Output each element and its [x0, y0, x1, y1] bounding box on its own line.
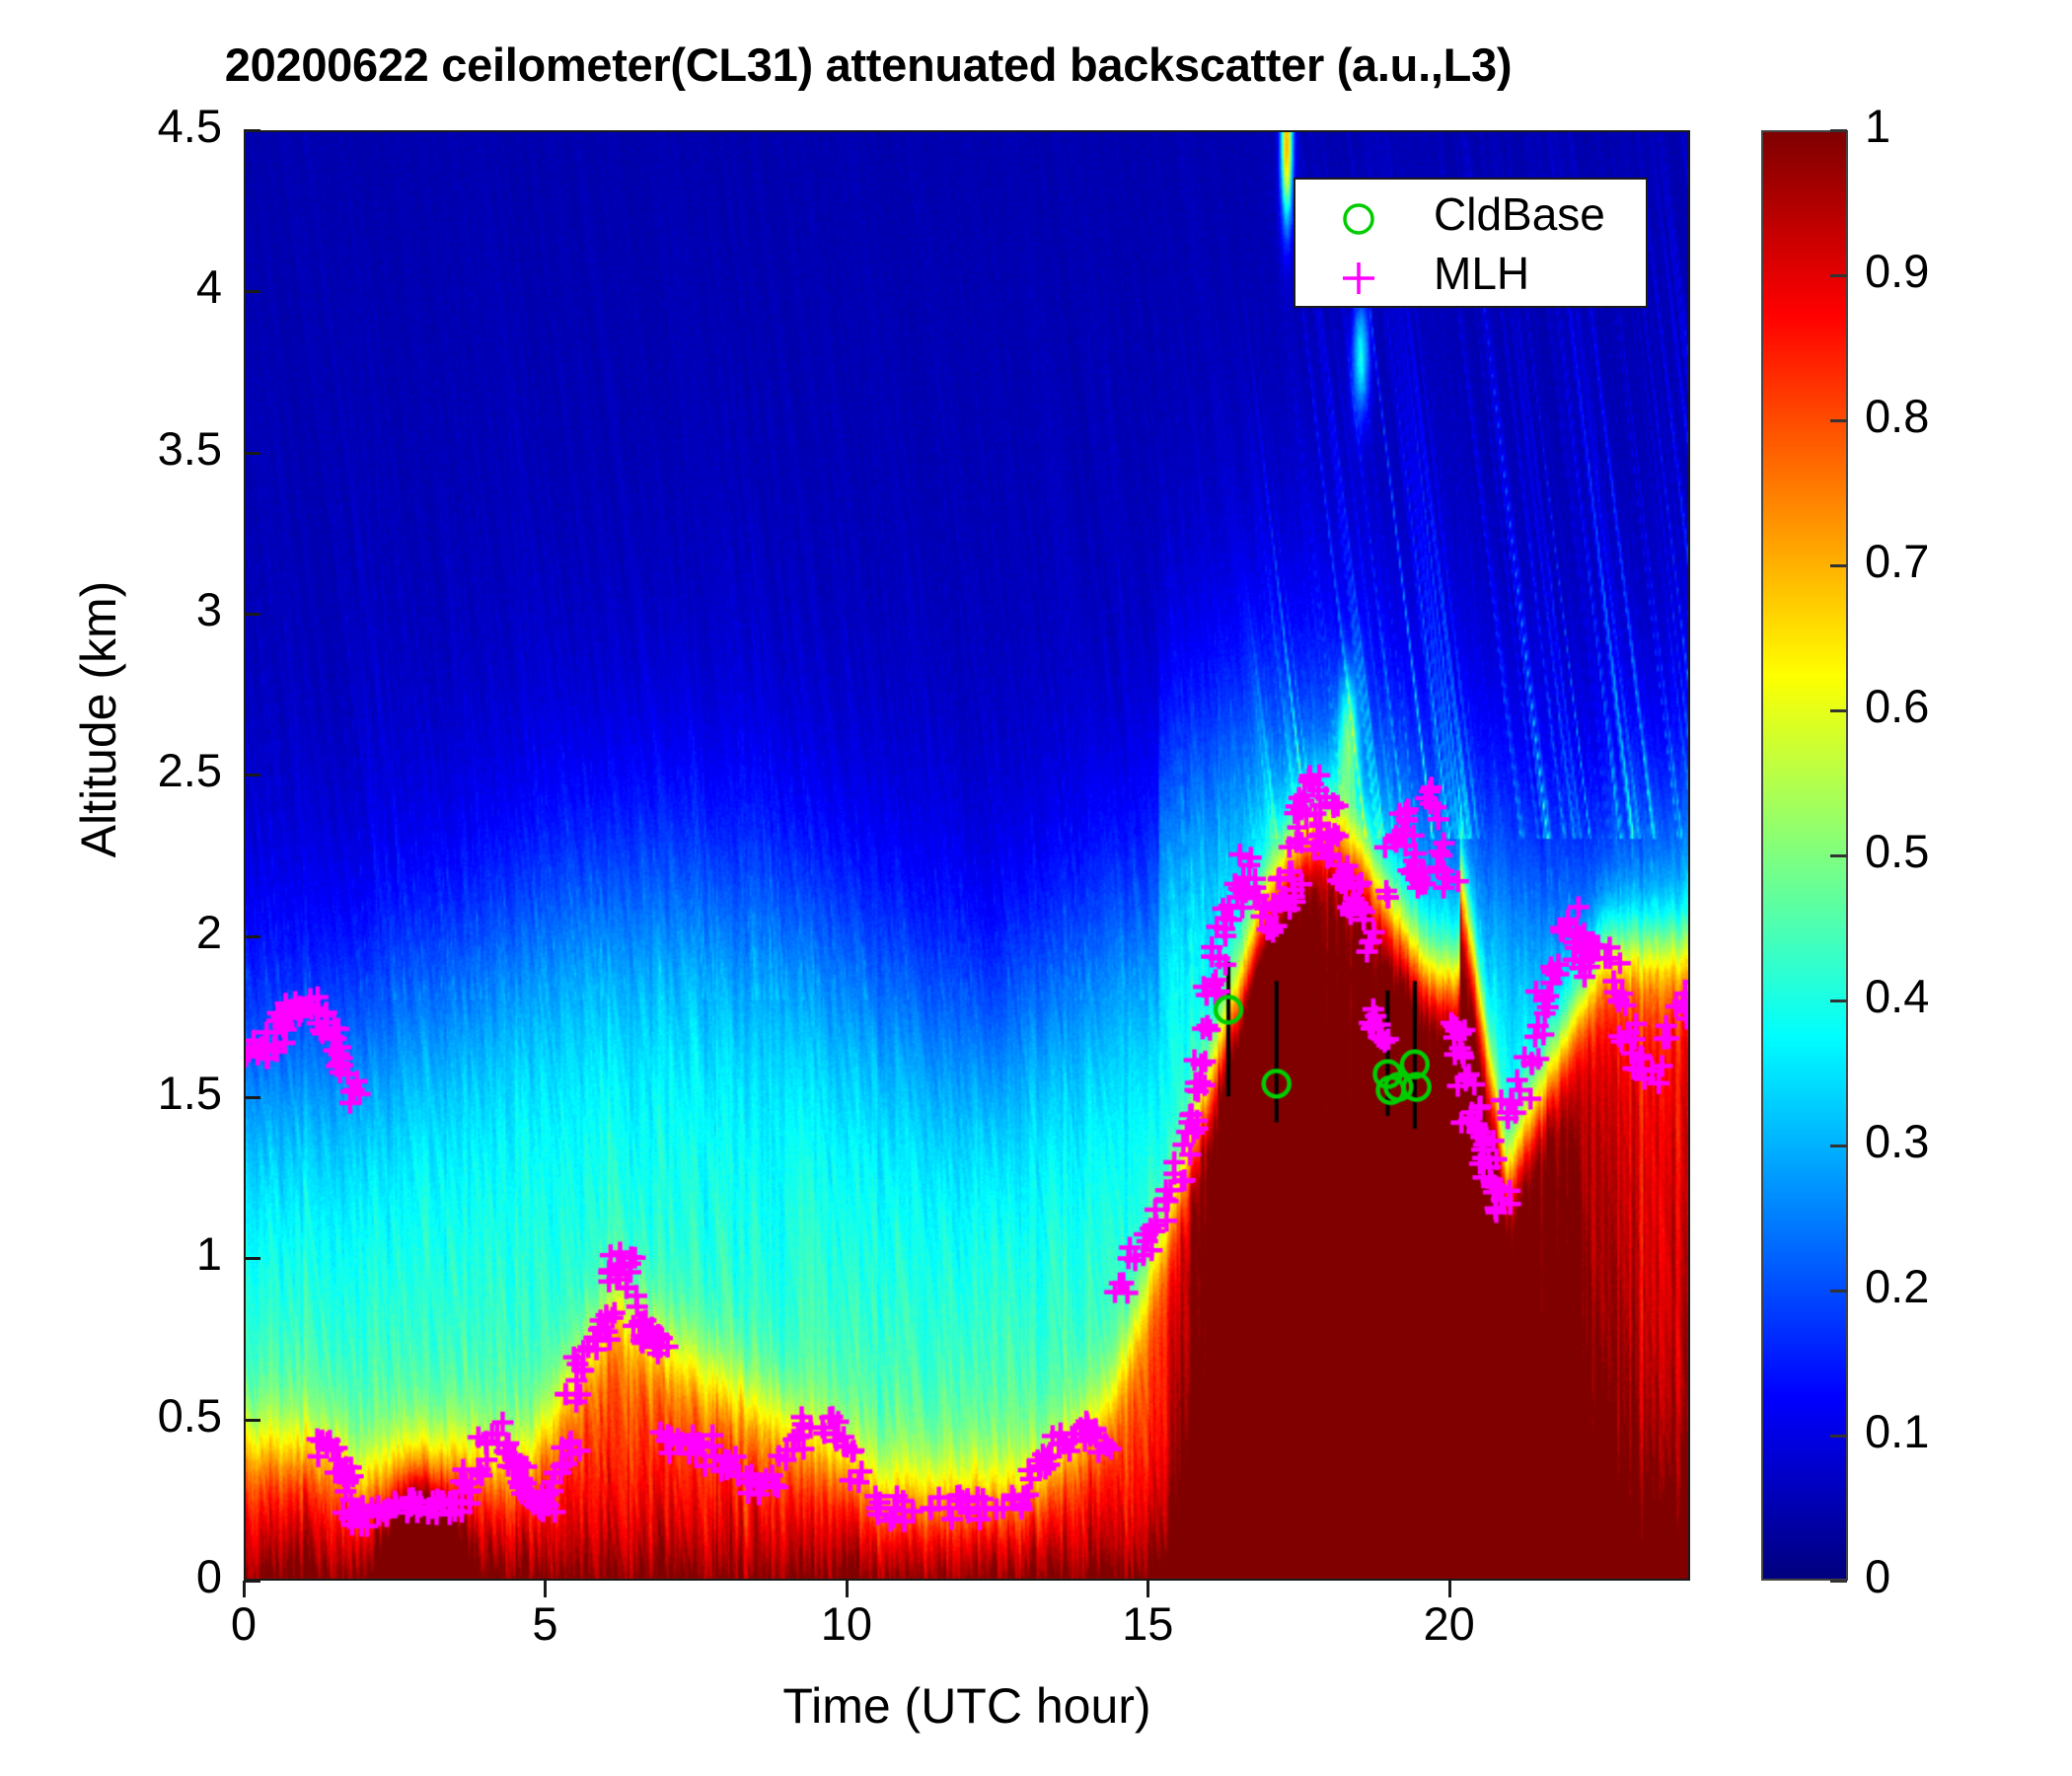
- colorbar-tick-mark: [1830, 1435, 1847, 1438]
- colorbar-tick-mark: [1830, 854, 1847, 857]
- colorbar-tick-mark: [1830, 274, 1847, 277]
- y-axis-tick-mark: [244, 774, 260, 777]
- circle-marker-icon: [1337, 197, 1380, 241]
- x-axis-label: Time (UTC hour): [244, 1677, 1690, 1735]
- colorbar-tick-mark: [1830, 419, 1847, 422]
- y-axis-tick-mark: [244, 1419, 260, 1422]
- colorbar-tick-label: 0.6: [1865, 679, 1929, 733]
- x-axis-tick-mark: [846, 1581, 849, 1597]
- colorbar-tick-label: 0: [1865, 1549, 1890, 1603]
- legend-item-mlh[interactable]: MLH: [1295, 245, 1646, 304]
- colorbar-tick-mark: [1830, 1290, 1847, 1293]
- y-axis-tick-label: 2: [59, 905, 222, 959]
- y-axis-tick-label: 1: [59, 1226, 222, 1281]
- figure-root: 20200622 ceilometer(CL31) attenuated bac…: [0, 0, 2072, 1776]
- x-axis-tick-label: 10: [787, 1596, 906, 1651]
- colorbar-tick-label: 0.7: [1865, 534, 1929, 588]
- heatmap-plot-area[interactable]: [244, 130, 1690, 1581]
- y-axis-tick-mark: [244, 1580, 260, 1583]
- y-axis-tick-label: 4.5: [59, 99, 222, 153]
- y-axis-tick-label: 0: [59, 1549, 222, 1603]
- colorbar-tick-mark: [1830, 1580, 1847, 1583]
- colorbar-tick-label: 1: [1865, 99, 1890, 153]
- y-axis-label: Altitude (km): [70, 374, 127, 1065]
- colorbar-tick-label: 0.5: [1865, 824, 1929, 878]
- plus-marker-icon: [1337, 257, 1380, 300]
- x-axis-tick-label: 15: [1088, 1596, 1207, 1651]
- colorbar-tick-mark: [1830, 129, 1847, 132]
- figure-title: 20200622 ceilometer(CL31) attenuated bac…: [0, 37, 1737, 92]
- legend-item-cldbase[interactable]: CldBase: [1295, 185, 1646, 245]
- x-axis-tick-mark: [1147, 1581, 1149, 1597]
- y-axis-tick-label: 3.5: [59, 421, 222, 476]
- y-axis-tick-mark: [244, 1096, 260, 1099]
- x-axis-tick-label: 0: [185, 1596, 303, 1651]
- legend-label-cldbase: CldBase: [1434, 187, 1605, 241]
- colorbar-tick-label: 0.3: [1865, 1114, 1929, 1168]
- y-axis-tick-mark: [244, 290, 260, 293]
- colorbar-tick-mark: [1830, 999, 1847, 1002]
- y-axis-tick-label: 0.5: [59, 1388, 222, 1443]
- y-axis-tick-mark: [244, 129, 260, 132]
- colorbar-tick-label: 0.4: [1865, 969, 1929, 1023]
- legend-label-mlh: MLH: [1434, 247, 1529, 300]
- colorbar-tick-mark: [1830, 709, 1847, 712]
- y-axis-tick-label: 2.5: [59, 743, 222, 797]
- colorbar-tick-mark: [1830, 1145, 1847, 1147]
- y-axis-tick-mark: [244, 613, 260, 616]
- colorbar-tick-label: 0.8: [1865, 389, 1929, 443]
- colorbar-tick-label: 0.1: [1865, 1404, 1929, 1458]
- y-axis-tick-mark: [244, 452, 260, 455]
- legend-box: CldBase MLH: [1294, 178, 1648, 308]
- x-axis-tick-mark: [243, 1581, 246, 1597]
- y-axis-tick-label: 4: [59, 259, 222, 314]
- marker-overlay-canvas: [246, 132, 1688, 1579]
- y-axis-tick-label: 1.5: [59, 1066, 222, 1120]
- colorbar-tick-mark: [1830, 564, 1847, 567]
- colorbar-tick-label: 0.2: [1865, 1259, 1929, 1313]
- x-axis-tick-label: 5: [485, 1596, 604, 1651]
- x-axis-tick-mark: [1448, 1581, 1451, 1597]
- y-axis-tick-mark: [244, 1257, 260, 1260]
- x-axis-tick-label: 20: [1390, 1596, 1509, 1651]
- x-axis-tick-mark: [544, 1581, 547, 1597]
- y-axis-tick-mark: [244, 935, 260, 938]
- y-axis-tick-label: 3: [59, 582, 222, 636]
- colorbar-tick-label: 0.9: [1865, 244, 1929, 298]
